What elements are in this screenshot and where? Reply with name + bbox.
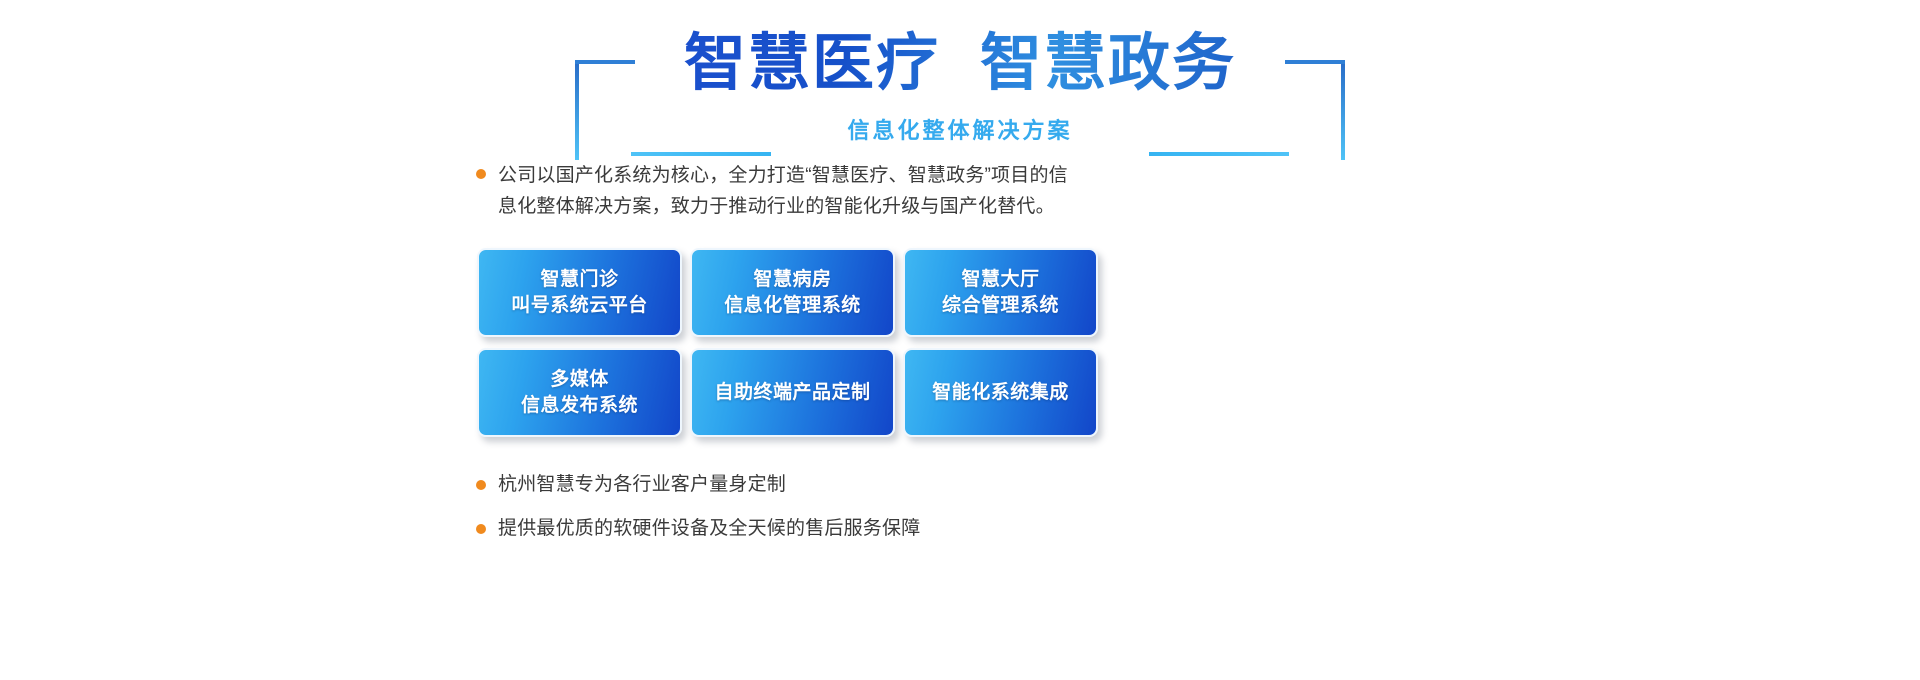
page-title: 智慧医疗智慧政务 [575, 22, 1345, 106]
footer-bullet-text: 杭州智慧专为各行业客户量身定制 [498, 472, 786, 498]
card-line-1: 智能化系统集成 [932, 382, 1069, 403]
bracket-bottom-left-line [631, 152, 771, 156]
card-line-1: 自助终端产品定制 [714, 382, 870, 403]
page-subtitle: 信息化整体解决方案 [575, 114, 1345, 148]
solution-card-label: 多媒体信息发布系统 [521, 367, 638, 419]
card-line-1: 智慧门诊 [540, 269, 618, 290]
solution-card-label: 智慧门诊叫号系统云平台 [511, 267, 648, 319]
list-item: 提供最优质的软硬件设备及全天候的售后服务保障 [476, 516, 1176, 542]
solution-card[interactable]: 自助终端产品定制 [690, 348, 895, 437]
solution-card-label: 智慧大厅综合管理系统 [942, 267, 1059, 319]
intro-line-1: 公司以国产化系统为核心，全力打造“智慧医疗、智慧政务”项目的信 [498, 165, 1068, 186]
intro-line-2: 息化整体解决方案，致力于推动行业的智能化升级与国产化替代。 [498, 191, 1068, 222]
solution-card[interactable]: 智能化系统集成 [903, 348, 1098, 437]
solution-card[interactable]: 智慧病房信息化管理系统 [690, 248, 895, 337]
header-title-block: 智慧医疗智慧政务 信息化整体解决方案 [575, 22, 1345, 142]
card-line-1: 多媒体 [550, 369, 609, 390]
bullet-dot-icon [476, 524, 486, 534]
page-title-part-1: 智慧医疗 [684, 29, 940, 98]
solution-card[interactable]: 智慧大厅综合管理系统 [903, 248, 1098, 337]
card-line-2: 信息发布系统 [521, 395, 638, 416]
card-line-1: 智慧大厅 [961, 269, 1039, 290]
footer-bullet-text: 提供最优质的软硬件设备及全天候的售后服务保障 [498, 516, 920, 542]
bracket-bottom-right-line [1149, 152, 1289, 156]
solution-card-grid: 智慧门诊叫号系统云平台 智慧病房信息化管理系统 智慧大厅综合管理系统 多媒体信息… [477, 248, 1095, 437]
solution-card[interactable]: 多媒体信息发布系统 [477, 348, 682, 437]
solution-card-label: 智能化系统集成 [932, 380, 1069, 406]
intro-paragraph-text: 公司以国产化系统为核心，全力打造“智慧医疗、智慧政务”项目的信 息化整体解决方案… [498, 160, 1068, 222]
intro-paragraph: 公司以国产化系统为核心，全力打造“智慧医疗、智慧政务”项目的信 息化整体解决方案… [476, 160, 1286, 222]
solution-card-label: 智慧病房信息化管理系统 [724, 267, 861, 319]
solution-card-label: 自助终端产品定制 [714, 380, 870, 406]
card-line-2: 叫号系统云平台 [511, 295, 648, 316]
footer-bullet-list: 杭州智慧专为各行业客户量身定制 提供最优质的软硬件设备及全天候的售后服务保障 [476, 472, 1176, 560]
solution-card[interactable]: 智慧门诊叫号系统云平台 [477, 248, 682, 337]
bullet-dot-icon [476, 480, 486, 490]
page-root: 智慧医疗智慧政务 信息化整体解决方案 公司以国产化系统为核心，全力打造“智慧医疗… [0, 0, 1920, 680]
bullet-dot-icon [476, 169, 486, 179]
card-line-1: 智慧病房 [753, 269, 831, 290]
card-line-2: 信息化管理系统 [724, 295, 861, 316]
card-line-2: 综合管理系统 [942, 295, 1059, 316]
page-title-part-2: 智慧政务 [980, 29, 1236, 98]
list-item: 杭州智慧专为各行业客户量身定制 [476, 472, 1176, 498]
